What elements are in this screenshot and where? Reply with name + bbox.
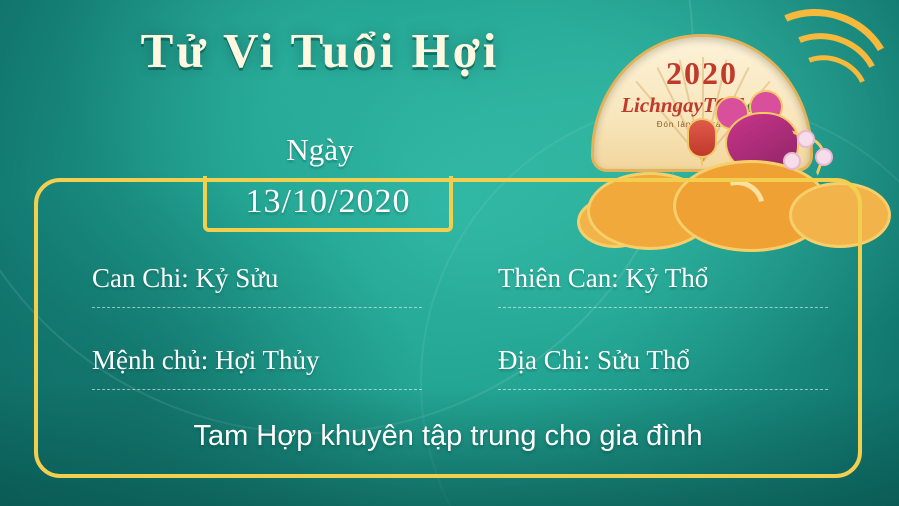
date-value: 13/10/2020	[246, 183, 411, 221]
info-cell-thien-can: Thiên Can: Kỷ Thổ	[498, 250, 828, 308]
info-cell-text: Mệnh chủ: Hợi Thủy	[92, 345, 320, 376]
advice-text: Tam Hợp khuyên tập trung cho gia đình	[34, 420, 862, 453]
info-cell-text: Địa Chi: Sửu Thổ	[498, 345, 690, 376]
lantern-icon	[687, 118, 717, 158]
date-label: Ngày	[0, 132, 640, 168]
page-title: Tử Vi Tuổi Hợi	[0, 22, 640, 79]
info-row: Can Chi: Kỷ Sửu Thiên Can: Kỷ Thổ	[34, 250, 862, 308]
info-cell-dia-chi: Địa Chi: Sửu Thổ	[498, 332, 828, 390]
poster-canvas: 2020 LichngayTOT.com Đón lành - Tránh dữ	[0, 0, 899, 506]
blossom-icon	[797, 130, 815, 148]
info-grid: Can Chi: Kỷ Sửu Thiên Can: Kỷ Thổ Mệnh c…	[34, 240, 862, 440]
info-cell-text: Thiên Can: Kỷ Thổ	[498, 263, 708, 294]
blossom-icon	[783, 152, 801, 170]
info-row: Mệnh chủ: Hợi Thủy Địa Chi: Sửu Thổ	[34, 332, 862, 390]
blossom-icon	[815, 148, 833, 166]
info-cell-menh-chu: Mệnh chủ: Hợi Thủy	[92, 332, 422, 390]
info-cell-can-chi: Can Chi: Kỷ Sửu	[92, 250, 422, 308]
info-cell-text: Can Chi: Kỷ Sửu	[92, 263, 278, 294]
date-box: 13/10/2020	[203, 176, 453, 232]
